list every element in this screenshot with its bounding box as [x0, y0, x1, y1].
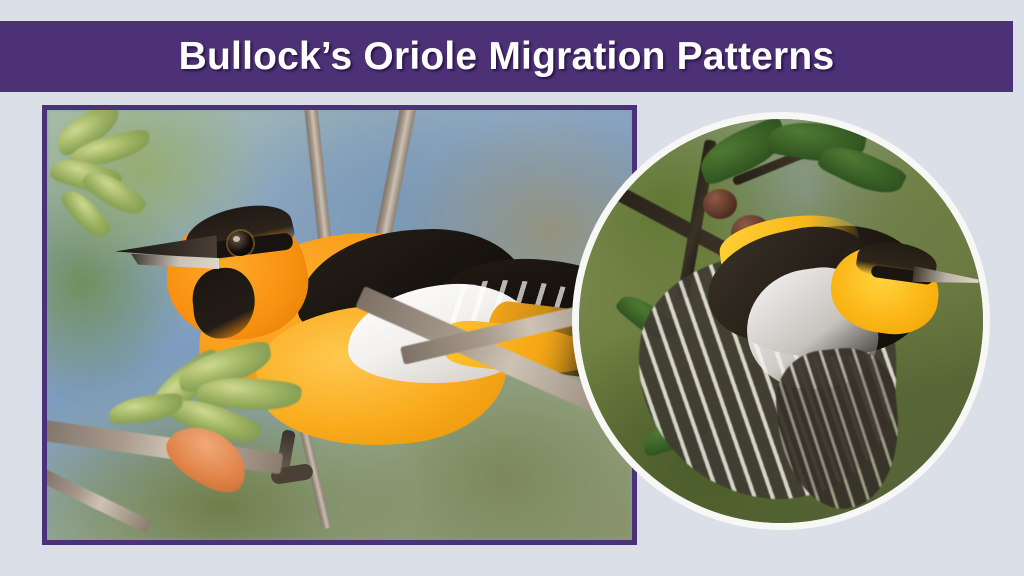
flying-oriole-photo	[572, 112, 990, 530]
berry-icon	[703, 189, 737, 219]
oriole-eye-glint	[233, 236, 240, 242]
slide-canvas: Bullock’s Oriole Migration Patterns	[0, 0, 1024, 576]
perched-oriole-photo	[47, 110, 632, 540]
perched-oriole-photo-frame	[42, 105, 637, 545]
page-title: Bullock’s Oriole Migration Patterns	[179, 37, 835, 76]
oriole-eye	[228, 231, 253, 256]
title-banner: Bullock’s Oriole Migration Patterns	[0, 21, 1013, 92]
